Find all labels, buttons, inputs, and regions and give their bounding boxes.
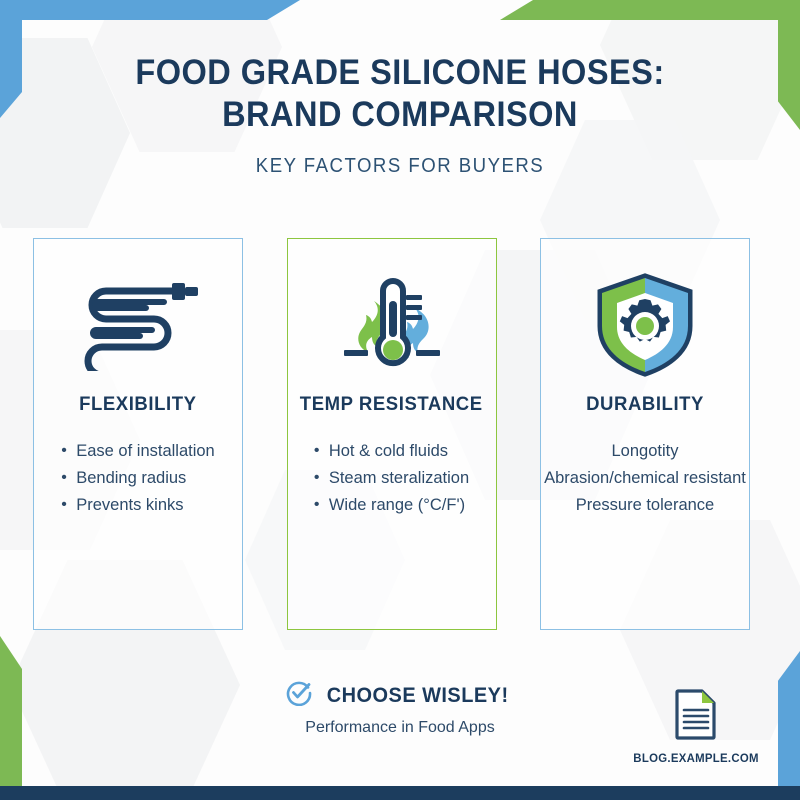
- list-item: Longotity: [544, 438, 746, 465]
- page-title-line1: FOOD GRADE SILICONE HOSES:: [65, 52, 735, 94]
- shield-gear-icon: [541, 271, 749, 379]
- card-title: TEMP RESISTANCE: [300, 393, 483, 416]
- header: FOOD GRADE SILICONE HOSES: BRAND COMPARI…: [0, 52, 800, 178]
- list-item: Hot & cold fluids: [314, 438, 469, 465]
- card-temp-resistance[interactable]: TEMP RESISTANCE Hot & cold fluids Steam …: [287, 238, 497, 630]
- infographic-canvas: FOOD GRADE SILICONE HOSES: BRAND COMPARI…: [0, 0, 800, 800]
- document-icon: [674, 688, 718, 745]
- list-item: Abrasion/chemical resistant: [544, 465, 746, 492]
- card-title: DURABILITY: [586, 393, 704, 416]
- list-item: Ease of installation: [61, 438, 215, 465]
- page-subtitle: KEY FACTORS FOR BUYERS: [28, 155, 772, 178]
- card-durability[interactable]: DURABILITY Longotity Abrasion/chemical r…: [540, 238, 750, 630]
- brand-watermark[interactable]: BLOG.EXAMPLE.COM: [630, 688, 762, 765]
- card-feature-list: Ease of installation Bending radius Prev…: [61, 438, 215, 519]
- list-item: Wide range (°C/F'): [314, 492, 469, 519]
- list-item: Steam steralization: [314, 465, 469, 492]
- list-item: Pressure tolerance: [544, 492, 746, 519]
- card-feature-list: Hot & cold fluids Steam steralization Wi…: [314, 438, 469, 519]
- thermometer-flames-icon: [288, 271, 496, 379]
- card-flexibility[interactable]: FLEXIBILITY Ease of installation Bending…: [33, 238, 243, 630]
- cta-text: CHOOSE WISLEY!: [327, 684, 509, 708]
- list-item: Prevents kinks: [61, 492, 215, 519]
- page-title-line2: BRAND COMPARISON: [65, 94, 735, 136]
- list-item: Bending radius: [61, 465, 215, 492]
- bottom-bar: [0, 786, 800, 800]
- check-circle-icon: [286, 680, 312, 711]
- comparison-card-list: FLEXIBILITY Ease of installation Bending…: [33, 238, 750, 630]
- corner-band-top-right-horizontal: [500, 0, 800, 20]
- corner-band-top-left-horizontal: [0, 0, 300, 20]
- card-feature-list: Longotity Abrasion/chemical resistant Pr…: [544, 438, 746, 519]
- coiled-hose-icon: [34, 271, 242, 379]
- brand-url: BLOG.EXAMPLE.COM: [633, 751, 759, 765]
- card-title: FLEXIBILITY: [79, 393, 196, 416]
